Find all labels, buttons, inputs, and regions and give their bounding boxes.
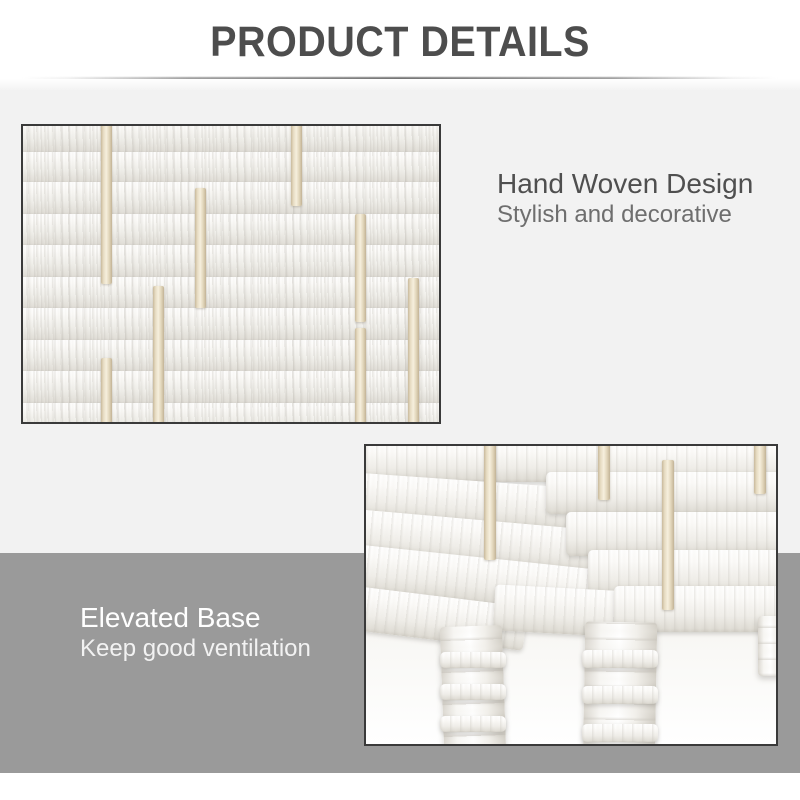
callout-elevated-base-title: Elevated Base xyxy=(80,602,311,634)
dowel-post xyxy=(662,460,674,610)
dowel-post xyxy=(754,444,766,494)
leg-wrap-band xyxy=(582,724,658,742)
dowel-post xyxy=(484,444,496,560)
callout-elevated-base-subtitle: Keep good ventilation xyxy=(80,634,311,664)
dowel-post xyxy=(101,124,112,284)
dowel-post xyxy=(153,286,164,424)
base-leg xyxy=(758,616,778,676)
dowel-post xyxy=(195,188,206,308)
dowel-post xyxy=(408,278,419,424)
leg-wrap-band xyxy=(440,652,506,668)
leg-wrap-band xyxy=(440,684,506,700)
callout-elevated-base: Elevated Base Keep good ventilation xyxy=(80,602,311,664)
callout-hand-woven-subtitle: Stylish and decorative xyxy=(497,200,753,230)
dowel-post xyxy=(101,358,112,424)
page-title: PRODUCT DETAILS xyxy=(32,18,768,66)
leg-wrap-band xyxy=(582,686,658,704)
photo-weave-closeup xyxy=(21,124,441,424)
photo-base-closeup xyxy=(364,444,778,746)
callout-hand-woven-title: Hand Woven Design xyxy=(497,168,753,200)
footer-strip xyxy=(0,773,800,800)
leg-wrap-band xyxy=(440,716,506,732)
weave-rows xyxy=(23,126,439,422)
dowel-post xyxy=(598,444,610,500)
dowel-post xyxy=(291,124,302,206)
callout-hand-woven: Hand Woven Design Stylish and decorative xyxy=(497,168,753,230)
dowel-post xyxy=(355,214,366,322)
product-details-infographic: PRODUCT DETAILS xyxy=(0,0,800,800)
leg-wrap-band xyxy=(582,650,658,668)
dowel-post xyxy=(355,328,366,424)
header-fade xyxy=(0,79,800,91)
